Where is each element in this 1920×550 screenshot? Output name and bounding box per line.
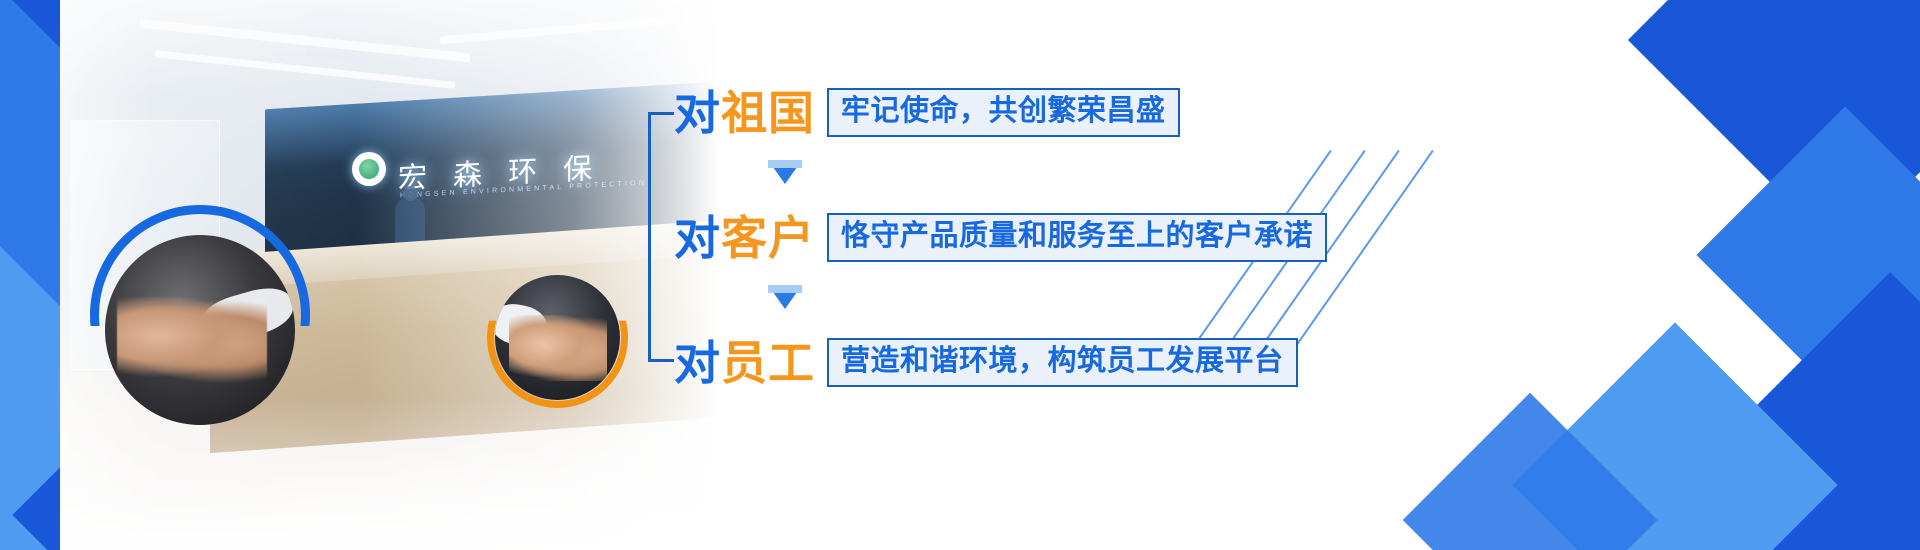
values-bracket: [648, 112, 674, 362]
value-subject-2: 客户: [721, 215, 815, 261]
value-tag-1: 牢记使命，共创繁荣昌盛: [827, 88, 1180, 137]
company-values-banner: 宏 森 环 保 HONGSEN ENVIRONMENTAL PROTECTION…: [0, 0, 1920, 550]
value-tag-3: 营造和谐环境，构筑员工发展平台: [827, 338, 1298, 387]
value-tag-2: 恪守产品质量和服务至上的客户承诺: [827, 213, 1327, 262]
arrow-down-icon-1: [768, 160, 802, 184]
value-row-2: 对 客户 恪守产品质量和服务至上的客户承诺: [674, 213, 1327, 262]
value-row-1: 对 祖国 牢记使命，共创繁荣昌盛: [674, 88, 1180, 137]
values-content: 对 祖国 牢记使命，共创繁荣昌盛 对 客户 恪守产品质量和服务至上的客户承诺 对…: [648, 72, 1368, 402]
value-prefix-1: 对: [674, 90, 721, 136]
value-row-3: 对 员工 营造和谐环境，构筑员工发展平台: [674, 338, 1298, 387]
value-prefix-3: 对: [674, 340, 721, 386]
value-subject-1: 祖国: [721, 90, 815, 136]
value-prefix-2: 对: [674, 215, 721, 261]
value-subject-3: 员工: [721, 340, 815, 386]
decor-diagonal-lines: [1330, 150, 1590, 450]
arrow-down-icon-2: [768, 285, 802, 309]
